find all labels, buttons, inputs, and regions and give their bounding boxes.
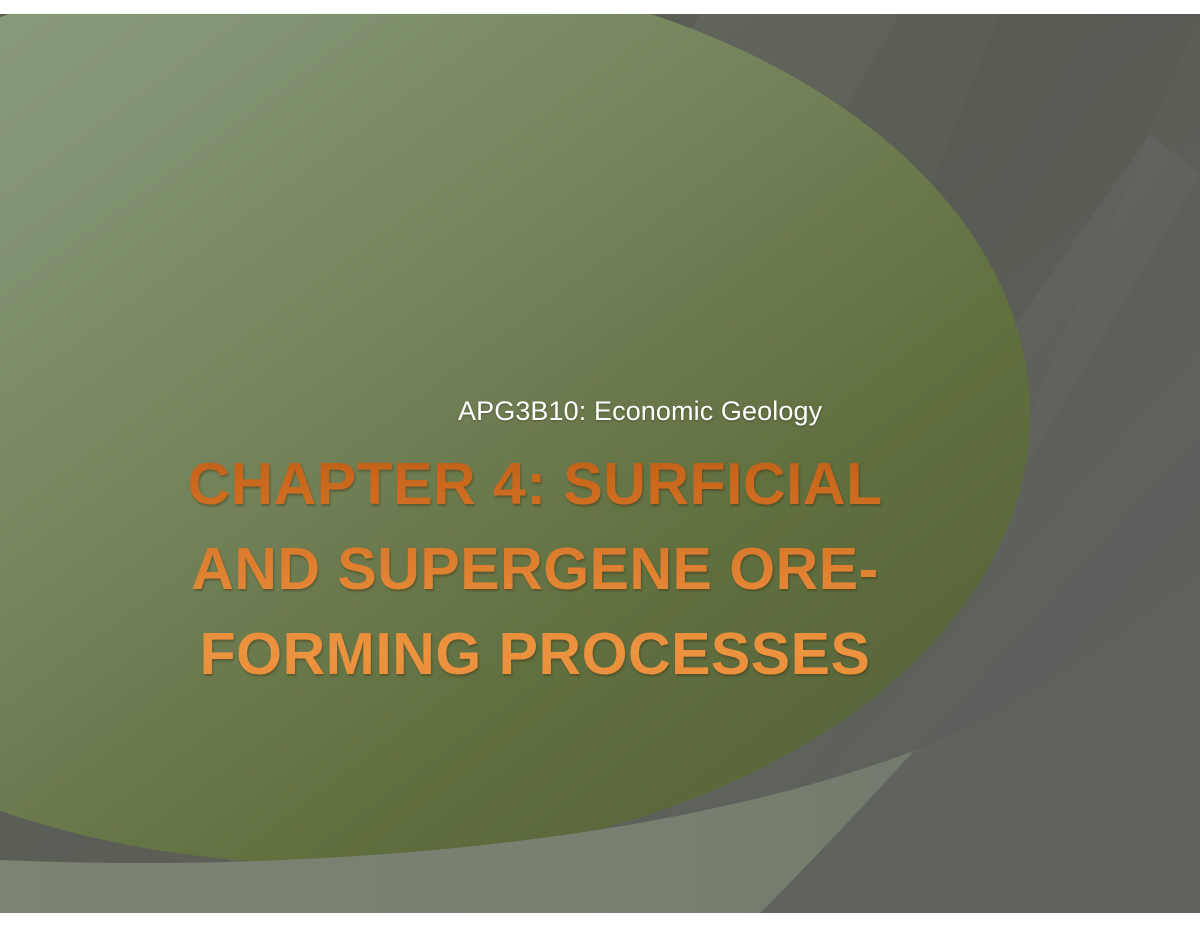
title-text-block: APG3B10: Economic Geology Chapter 4: Sur… — [150, 394, 920, 697]
course-subtitle: APG3B10: Economic Geology — [458, 394, 920, 428]
title-line-1: Chapter 4: Surficial — [150, 442, 920, 527]
slide-page: APG3B10: Economic Geology Chapter 4: Sur… — [0, 0, 1200, 927]
title-line-3: forming processes — [150, 612, 920, 697]
title-slide: APG3B10: Economic Geology Chapter 4: Sur… — [0, 14, 1200, 913]
title-line-2: and supergene ore- — [150, 527, 920, 612]
page-title: Chapter 4: Surficial and supergene ore- … — [150, 442, 920, 697]
